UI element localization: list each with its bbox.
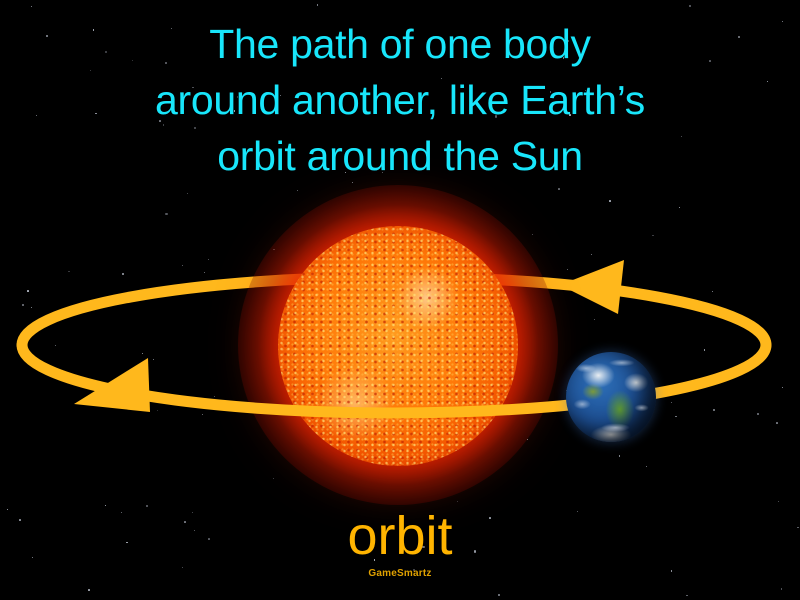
watermark-label: GameSmartz bbox=[0, 568, 800, 579]
definition-text: The path of one body around another, lik… bbox=[0, 16, 800, 184]
definition-card: The path of one body around another, lik… bbox=[0, 0, 800, 600]
term-label: orbit bbox=[0, 505, 800, 567]
earth-cloud-layer bbox=[566, 352, 656, 442]
